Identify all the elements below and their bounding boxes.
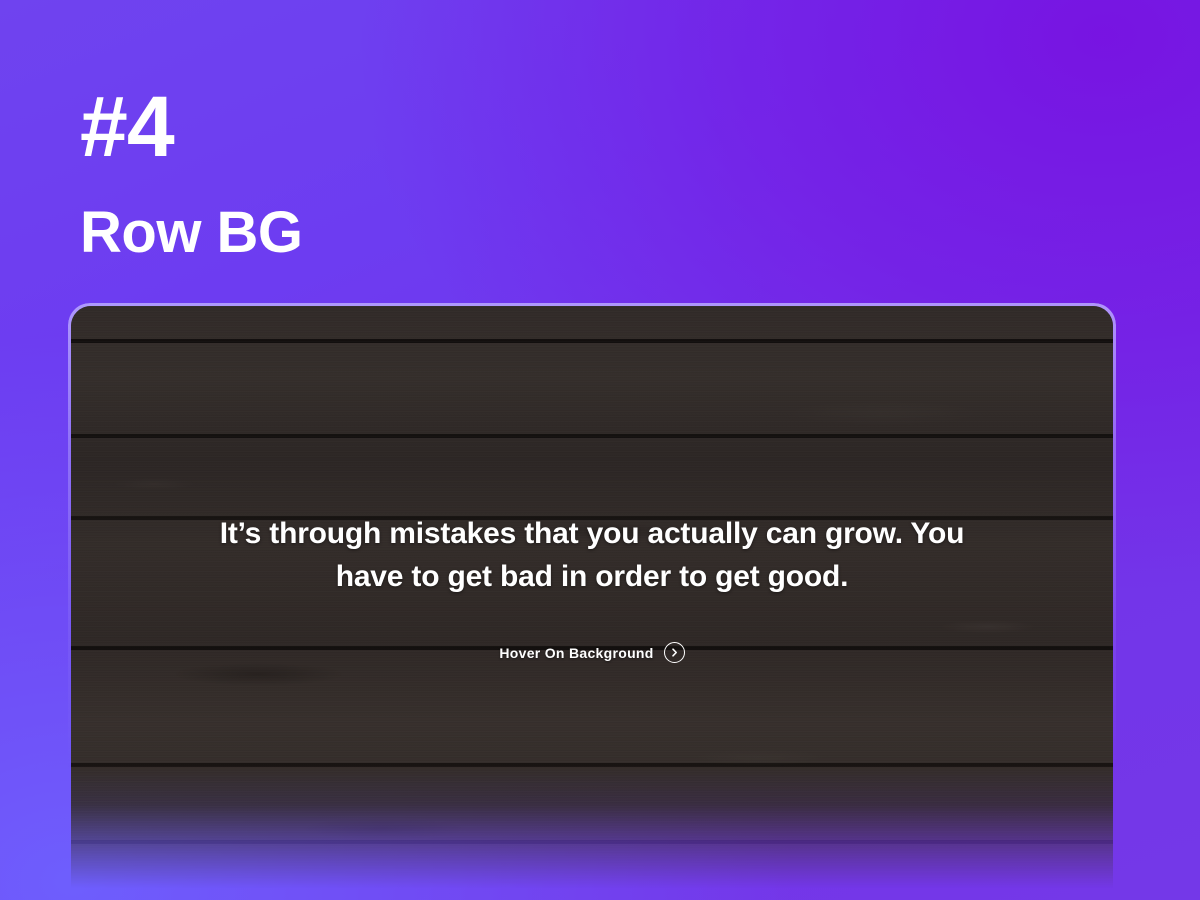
quote-text: It’s through mistakes that you actually … [202, 512, 982, 598]
page-title: Row BG [80, 204, 700, 262]
hover-on-background-label: Hover On Background [499, 645, 653, 661]
card-content: It’s through mistakes that you actually … [71, 512, 1113, 663]
row-bg-card-border: It’s through mistakes that you actually … [68, 303, 1116, 900]
row-bg-card[interactable]: It’s through mistakes that you actually … [71, 306, 1113, 900]
chevron-right-circle-icon [664, 642, 685, 663]
heading-block: #4 Row BG [80, 84, 700, 262]
slide-number: #4 [80, 84, 700, 170]
hover-on-background-link[interactable]: Hover On Background [499, 642, 684, 663]
